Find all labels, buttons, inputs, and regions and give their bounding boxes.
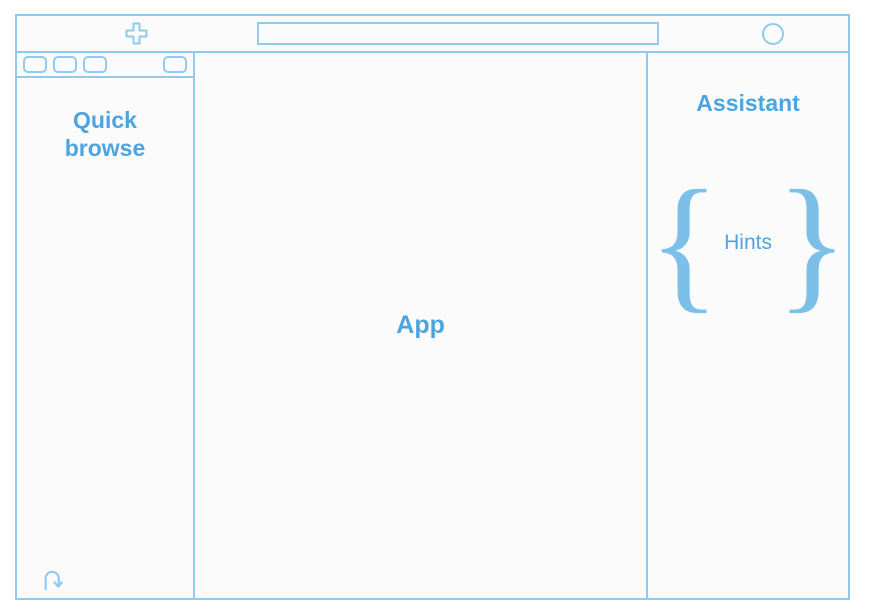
brace-left-icon: {	[648, 185, 720, 302]
toolbar-button-1[interactable]	[23, 56, 47, 73]
app-content-area: App	[195, 53, 648, 600]
toolbar-button-4[interactable]	[163, 56, 187, 73]
add-button[interactable]	[17, 16, 255, 51]
toolbar-button-3[interactable]	[83, 56, 107, 73]
assistant-title: Assistant	[696, 90, 800, 117]
top-bar	[15, 14, 850, 53]
sidebar-content: Quick browse	[17, 78, 193, 598]
app-label: App	[396, 311, 445, 340]
sidebar-footer	[17, 566, 193, 592]
wireframe-window: Quick browse App Assistant	[15, 14, 850, 600]
account-button[interactable]	[698, 16, 848, 51]
sidebar-title-line-2: browse	[31, 134, 179, 162]
hints-label: Hints	[720, 231, 776, 255]
hints-group: { Hints }	[648, 173, 848, 313]
u-turn-arrow-icon[interactable]	[41, 566, 67, 592]
brace-right-icon: }	[776, 185, 848, 302]
toolbar-button-2[interactable]	[53, 56, 77, 73]
plus-icon	[125, 22, 148, 45]
assistant-panel: Assistant { Hints }	[648, 53, 850, 600]
sidebar-toolbar	[17, 53, 193, 78]
avatar-circle-icon	[762, 23, 784, 45]
window-body: Quick browse App Assistant	[15, 53, 850, 600]
search-input[interactable]	[257, 22, 659, 45]
sidebar-title-line-1: Quick	[31, 106, 179, 134]
sidebar-title: Quick browse	[17, 106, 193, 162]
sidebar-quick-browse: Quick browse	[15, 53, 195, 600]
search-bar	[257, 16, 707, 51]
